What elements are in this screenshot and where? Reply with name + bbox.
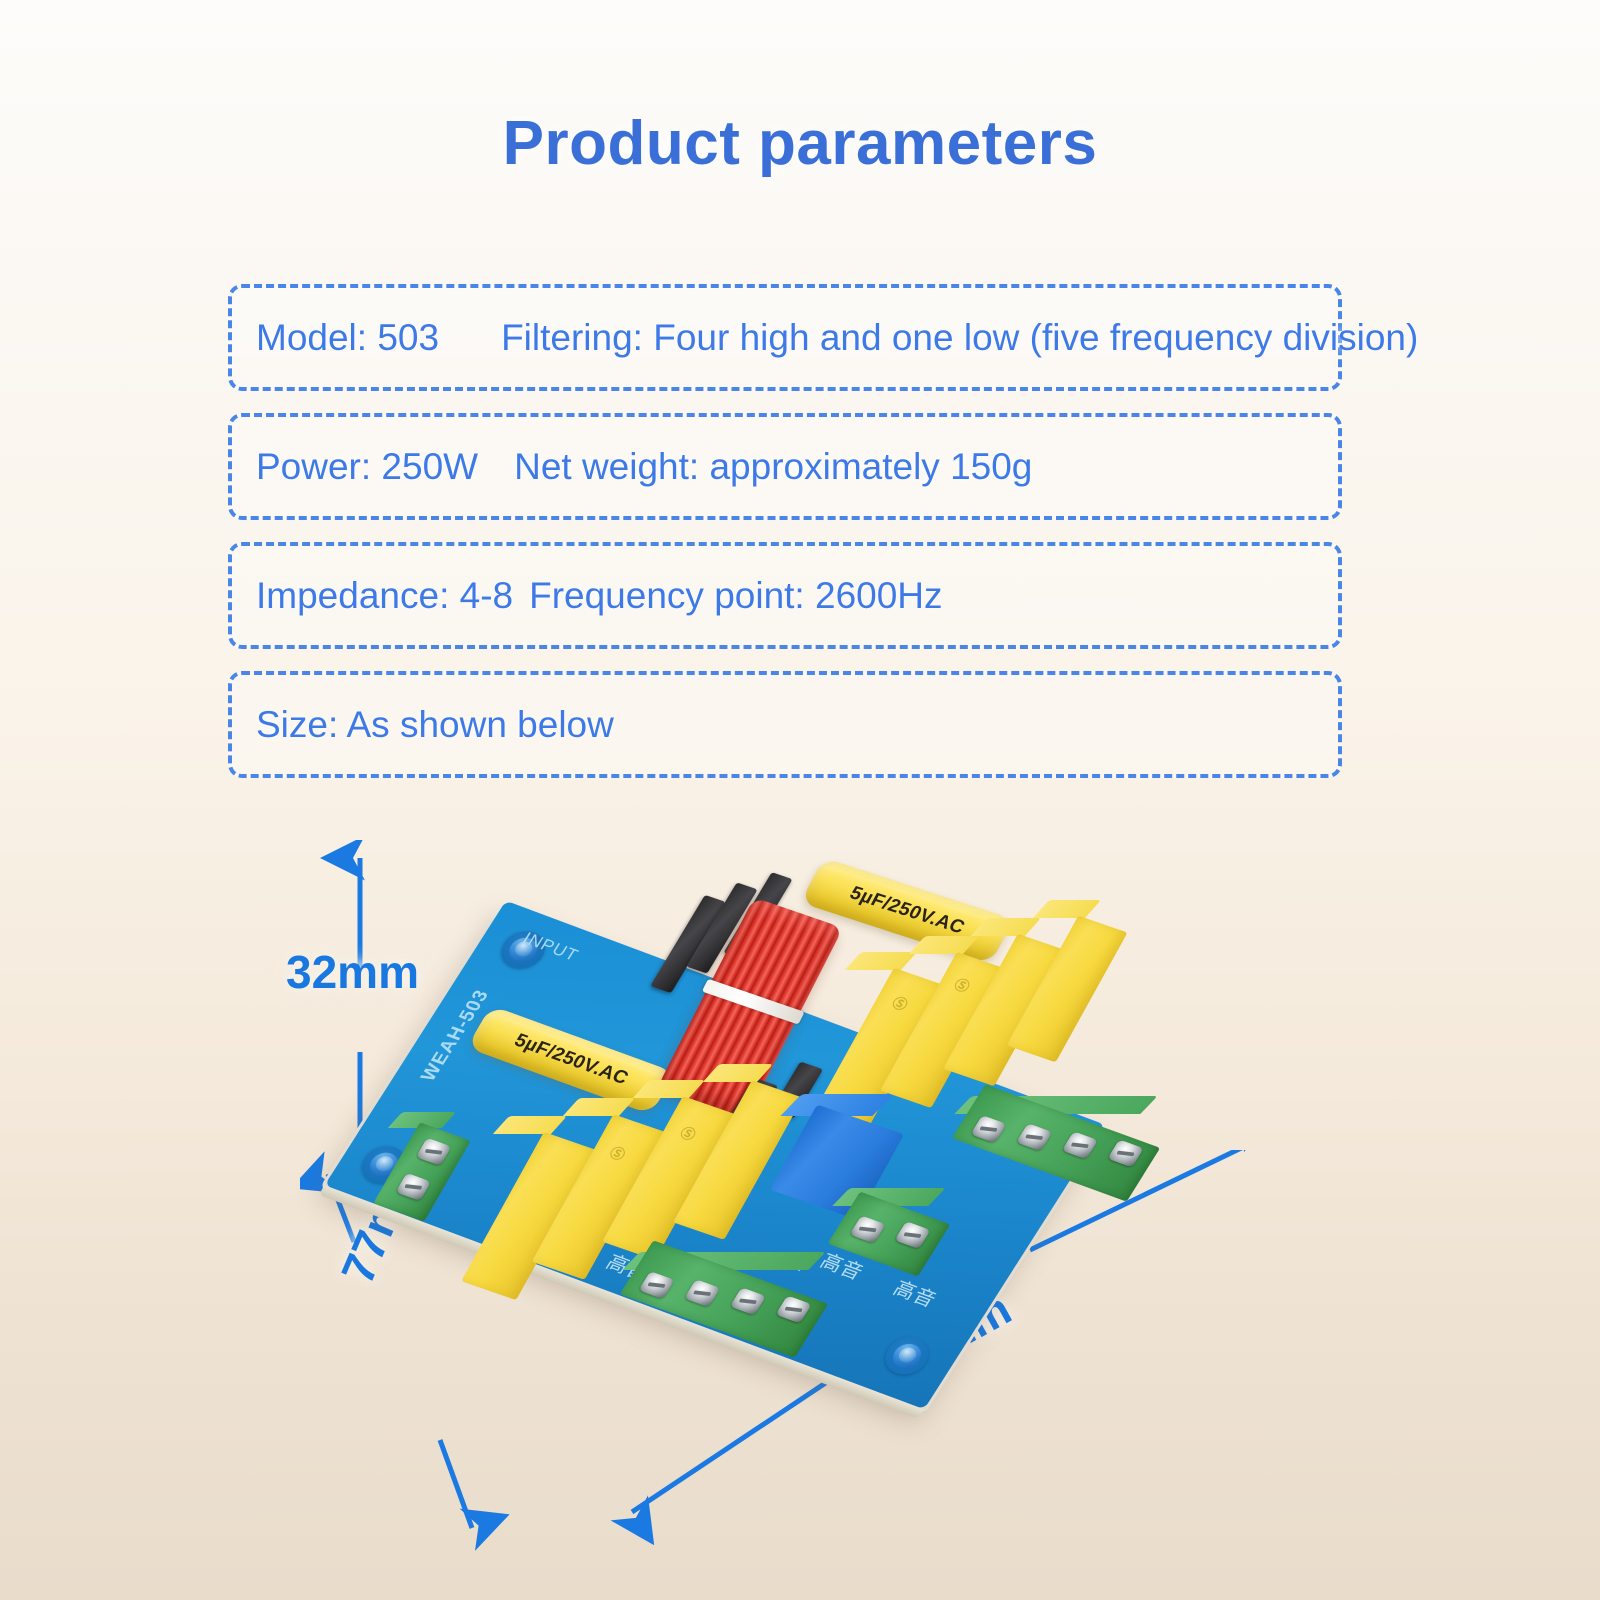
mounting-hole-bottom-right — [877, 1332, 936, 1380]
crossover-board: WEAH-503 INPUT 高音 高音 低音 高音 高音 + + + 5µF/… — [355, 840, 1255, 1580]
spec-row-power: Power: 250WNet weight: approximately 150… — [228, 413, 1342, 520]
terminal-screw-b2[interactable] — [894, 1221, 930, 1249]
spec-impedance-label: Impedance: 4-8 — [256, 575, 513, 616]
terminal-screw-f2[interactable] — [684, 1279, 720, 1307]
terminal-screw-f4[interactable] — [775, 1295, 811, 1323]
spec-model-label: Model: 503 — [256, 317, 439, 358]
spec-frequency-label: Frequency point: 2600Hz — [529, 575, 942, 616]
film-capacitor-top-label: 5µF/250V.AC — [846, 883, 969, 939]
page-title: Product parameters — [0, 108, 1600, 179]
product-photo: 32mm 77mm — [0, 820, 1600, 1600]
terminal-screw-r4[interactable] — [1107, 1139, 1143, 1167]
specifications-list: Model: 503Filtering: Four high and one l… — [228, 284, 1342, 800]
terminal-screw-f3[interactable] — [730, 1287, 766, 1315]
terminal-screw-r2[interactable] — [1016, 1123, 1052, 1151]
spec-row-model-text: Model: 503Filtering: Four high and one l… — [256, 317, 1418, 359]
silk-treble-4: 高音 — [888, 1273, 943, 1313]
spec-row-size: Size: As shown below — [228, 671, 1342, 778]
spec-power-label: Power: 250W — [256, 446, 478, 487]
spec-row-impedance-text: Impedance: 4-8Frequency point: 2600Hz — [256, 575, 943, 617]
terminal-screw-r1[interactable] — [970, 1115, 1006, 1143]
terminal-screw-r3[interactable] — [1062, 1131, 1098, 1159]
terminal-screw-b1[interactable] — [849, 1215, 885, 1243]
terminal-screw-in-2[interactable] — [396, 1173, 432, 1201]
spec-size-label: Size: As shown below — [256, 704, 614, 746]
spec-row-model: Model: 503Filtering: Four high and one l… — [228, 284, 1342, 391]
spec-filtering-label: Filtering: Four high and one low (five f… — [501, 317, 1418, 358]
product-parameters-page: Product parameters Model: 503Filtering: … — [0, 0, 1600, 1600]
terminal-screw-f1[interactable] — [638, 1271, 674, 1299]
coil-cable-tie — [702, 979, 805, 1025]
spec-weight-label: Net weight: approximately 150g — [514, 446, 1032, 487]
spec-row-power-text: Power: 250WNet weight: approximately 150… — [256, 446, 1032, 488]
terminal-screw-in-1[interactable] — [416, 1138, 452, 1166]
spec-row-impedance: Impedance: 4-8Frequency point: 2600Hz — [228, 542, 1342, 649]
